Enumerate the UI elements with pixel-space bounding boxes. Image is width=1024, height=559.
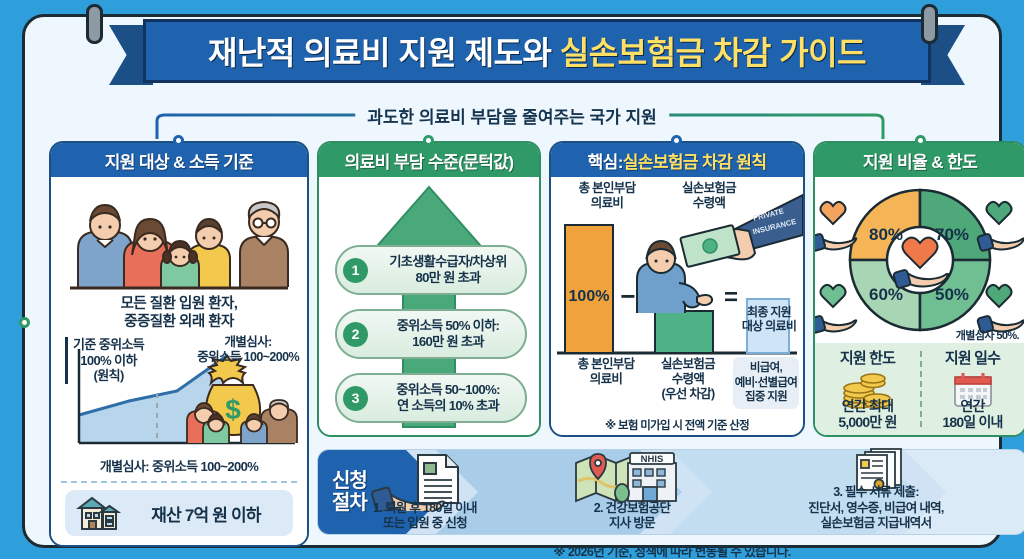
p3-gray-note-box: 비급여, 예비·선별급여 집중 지원	[733, 357, 799, 409]
p3-bottom-label-left: 총 본인부담 의료비	[557, 357, 655, 387]
donut-label-80: 80%	[869, 225, 903, 245]
panel4-bottom-stats: 지원 한도 연간 최대 5,000만 원	[815, 343, 1024, 435]
process-step-2-line2: 지사 방문	[537, 516, 727, 531]
process-step-3-text: 3. 필수 서류 제출: 진단서, 영수증, 비급여 내역, 실손보험금 지급내…	[725, 485, 1024, 531]
step-2-number: 2	[343, 322, 368, 347]
panel2-connector-knob	[423, 135, 434, 146]
panel-eligibility: 지원 대상 & 소득 기준	[49, 141, 309, 547]
subtitle-section: 과도한 의료비 부담을 줄여주는 국가 지원	[25, 101, 999, 143]
title-highlight: 실손보험금 차감 가이드	[560, 35, 866, 71]
panel3-header: 핵심: 실손보험금 차감 원칙	[551, 143, 803, 177]
support-limit-line1: 연간 최대	[815, 398, 920, 414]
panel4-note: 개별심사 50%.	[956, 327, 1019, 343]
chart-left-label-line3: (원칙)	[73, 368, 144, 384]
panel1-axis-caption: 개별심사: 중위소득 100~200%	[51, 456, 307, 475]
chart-left-label-line2: 100% 이하	[73, 353, 144, 369]
left-side-knob	[19, 317, 30, 328]
subtitle-text: 과도한 의료비 부담을 줄여주는 국가 지원	[355, 103, 669, 128]
family-icon	[64, 181, 294, 291]
step-2-line1: 중위소득 50% 이하:	[375, 318, 521, 334]
panel3-header-plain: 핵심:	[588, 148, 623, 173]
map-building-icon: NHIS	[572, 449, 692, 505]
p3-result-line2: 대상 의료비	[742, 319, 796, 333]
step-3-number: 3	[343, 386, 368, 411]
chart-right-label: 개별심사: 중위소득 100~200%	[197, 335, 299, 365]
panel-support-rate: 지원 비율 & 한도	[813, 141, 1024, 437]
panel3-connector-knob	[671, 135, 682, 146]
process-step-3-line3: 실손보험금 지급내역서	[725, 516, 1024, 531]
title-banner: 재난적 의료비 지원 제도와 실손보험금 차감 가이드	[143, 19, 931, 83]
p3-gray-line3: 집중 지원	[735, 390, 797, 404]
step-1-text: 기초생활수급자/차상위 80만 원 초과	[375, 254, 525, 286]
p3-bottom-left-line2: 의료비	[557, 372, 655, 387]
panel1-caption: 모든 질환 입원 환자, 중증질환 외래 환자	[51, 295, 307, 331]
process-step-1-text: 1. 퇴원 후 180일 이내 또는 입원 중 신청	[325, 501, 525, 532]
p3-result-box: 최종 지원 대상 의료비	[741, 301, 797, 337]
asset-label: 재산 7억 원 이하	[129, 501, 283, 526]
support-limit-title: 지원 한도	[815, 347, 920, 368]
panel1-header: 지원 대상 & 소득 기준	[51, 143, 307, 177]
p3-gray-line1: 비급여,	[735, 361, 797, 375]
income-chart: $	[57, 335, 301, 455]
donut-label-60: 60%	[869, 285, 903, 305]
support-days-line1: 연간	[920, 398, 1024, 414]
step-1-number: 1	[343, 258, 368, 283]
donut-label-70: 70%	[935, 225, 969, 245]
chart-right-label-line1: 개별심사:	[197, 335, 299, 350]
panel1-caption-line2: 중증질환 외래 환자	[51, 313, 307, 331]
title-part-1: 재난적 의료비 지원 제도와	[208, 35, 560, 71]
threshold-step-1: 1 기초생활수급자/차상위 80만 원 초과	[335, 245, 527, 295]
support-rate-donut: 80% 70% 60% 50%	[815, 177, 1024, 345]
process-step-1: 1. 퇴원 후 180일 이내 또는 입원 중 신청	[325, 449, 525, 535]
process-step-3: 3. 필수 서류 제출: 진단서, 영수증, 비급여 내역, 실손보험금 지급내…	[725, 445, 1024, 535]
svg-text:=: =	[724, 284, 738, 311]
panel4-header: 지원 비율 & 한도	[815, 143, 1024, 177]
support-limit-stat: 지원 한도 연간 최대 5,000만 원	[815, 343, 920, 435]
asset-criteria: 재산 7억 원 이하	[65, 490, 293, 536]
p3-bottom-mid-line1: 실손보험금	[645, 357, 731, 372]
p3-bar-value-text: 100%	[569, 288, 610, 305]
panel1-divider	[61, 481, 297, 483]
panel1-caption-line1: 모든 질환 입원 환자,	[51, 295, 307, 313]
support-limit-value: 연간 최대 5,000만 원	[815, 398, 920, 430]
panel3-header-highlight: 실손보험금 차감 원칙	[623, 148, 767, 173]
step-2-line2: 160만 원 초과	[375, 334, 521, 350]
chart-left-label: 기준 중위소득 100% 이하 (원칙)	[65, 337, 144, 384]
support-days-title: 지원 일수	[920, 347, 1024, 368]
support-days-value: 연간 180일 이내	[920, 398, 1024, 430]
p3-gray-line2: 예비·선별급여	[735, 376, 797, 390]
title-ribbon: 재난적 의료비 지원 제도와 실손보험금 차감 가이드	[25, 17, 999, 95]
house-icon	[75, 494, 121, 532]
clipboard-board: 재난적 의료비 지원 제도와 실손보험금 차감 가이드 과도한 의료비 부담을 …	[22, 14, 1002, 548]
p3-result-line1: 최종 지원	[742, 305, 796, 319]
p3-bottom-mid-line3: (우선 차감)	[645, 387, 731, 402]
threshold-step-3: 3 중위소득 50~100%: 연 소득의 10% 초과	[335, 373, 527, 423]
p3-footnote: ※ 보험 미가입 시 전액 기준 산정	[551, 417, 803, 433]
process-step-2: NHIS 2. 건강보험공단 지사 방문	[537, 447, 727, 535]
svg-text:$: $	[225, 394, 241, 425]
step-1-line1: 기초생활수급자/차상위	[375, 254, 521, 270]
threshold-step-2: 2 중위소득 50% 이하: 160만 원 초과	[335, 309, 527, 359]
process-step-1-line1: 1. 퇴원 후 180일 이내	[325, 501, 525, 516]
panel2-header: 의료비 부담 수준(문턱값)	[319, 143, 539, 177]
chart-right-label-line2: 중위소득 100~200%	[197, 350, 299, 365]
panel1-connector-knob	[173, 135, 184, 146]
step-3-line1: 중위소득 50~100%:	[375, 382, 521, 398]
family-illustration	[51, 181, 307, 293]
p3-bottom-mid-line2: 수령액	[645, 372, 731, 387]
step-3-line2: 연 소득의 10% 초과	[375, 398, 521, 414]
donut-label-50: 50%	[935, 285, 969, 305]
donut-chart-svg	[815, 177, 1024, 343]
clipboard-clip-left	[86, 4, 103, 44]
step-3-text: 중위소득 50~100%: 연 소득의 10% 초과	[375, 382, 525, 414]
process-step-3-line2: 진단서, 영수증, 비급여 내역,	[725, 501, 1024, 516]
chart-left-label-line1: 기준 중위소득	[73, 337, 144, 353]
support-days-line2: 180일 이내	[920, 414, 1024, 430]
step-1-line2: 80만 원 초과	[375, 270, 521, 286]
process-step-2-text: 2. 건강보험공단 지사 방문	[537, 501, 727, 532]
support-limit-line2: 5,000만 원	[815, 414, 920, 430]
page-footnote: ※ 2026년 기준, 정책에 따라 변동될 수 있습니다.	[317, 541, 1024, 559]
process-step-1-line2: 또는 입원 중 신청	[325, 516, 525, 531]
step-2-text: 중위소득 50% 이하: 160만 원 초과	[375, 318, 525, 350]
support-days-stat: 지원 일수	[920, 343, 1024, 435]
panel-threshold: 의료비 부담 수준(문턱값) 1 기초생활수급자/차상위 80만 원 초과 2 …	[317, 141, 541, 437]
process-step-2-line1: 2. 건강보험공단	[537, 501, 727, 516]
panel4-connector-knob	[915, 135, 926, 146]
svg-text:−: −	[620, 281, 635, 311]
clipboard-clip-right	[921, 4, 938, 44]
process-step-3-line1: 3. 필수 서류 제출:	[725, 485, 1024, 500]
nhis-sign-text: NHIS	[641, 454, 664, 465]
panel-deduction-principle: 핵심: 실손보험금 차감 원칙 총 본인부담 의료비 실손보험금 수령액	[549, 141, 805, 437]
p3-bottom-left-line1: 총 본인부담	[557, 357, 655, 372]
page-title: 재난적 의료비 지원 제도와 실손보험금 차감 가이드	[208, 28, 866, 74]
p3-bottom-label-mid: 실손보험금 수령액 (우선 차감)	[645, 357, 731, 402]
